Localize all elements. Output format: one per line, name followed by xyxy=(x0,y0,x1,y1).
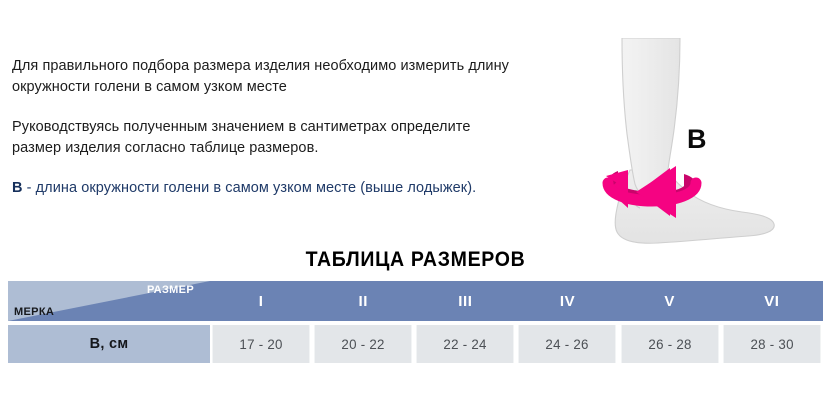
table-header-col-3: III xyxy=(414,281,516,321)
paragraph-measure-instruction: Для правильного подбора размера изделия … xyxy=(12,56,512,98)
table-header-row: РАЗМЕР МЕРКА I II III IV V VI xyxy=(8,281,823,321)
row-header-b-cm: В, см xyxy=(8,325,210,363)
table-header-col-1: I xyxy=(210,281,312,321)
table-header-col-2: II xyxy=(312,281,414,321)
paragraph-legend: В - длина окружности голени в самом узко… xyxy=(12,178,512,199)
cell-size-1: 17 - 20 xyxy=(213,325,310,363)
leg-illustration-svg xyxy=(580,38,831,270)
measure-label-b: В xyxy=(687,126,707,153)
corner-measure-label: МЕРКА xyxy=(14,306,54,318)
corner-size-label: РАЗМЕР xyxy=(147,284,194,296)
table-header-col-4: IV xyxy=(516,281,618,321)
cell-size-3: 22 - 24 xyxy=(417,325,514,363)
page-title: ТАБЛИЦА РАЗМЕРОВ xyxy=(29,248,802,272)
table-header-col-6: VI xyxy=(721,281,823,321)
cell-size-4: 24 - 26 xyxy=(519,325,616,363)
description-block: Для правильного подбора размера изделия … xyxy=(12,56,512,199)
table-header-col-5: V xyxy=(619,281,721,321)
size-table: РАЗМЕР МЕРКА I II III IV V VI В, см 17 -… xyxy=(8,281,823,363)
table-row: В, см 17 - 20 20 - 22 22 - 24 24 - 26 26… xyxy=(8,325,823,363)
table-corner-cell: РАЗМЕР МЕРКА xyxy=(8,281,210,321)
leg-measurement-figure: В xyxy=(580,38,831,270)
legend-text: - длина окружности голени в самом узком … xyxy=(23,180,477,196)
cell-size-5: 26 - 28 xyxy=(621,325,718,363)
paragraph-use-value-instruction: Руководствуясь полученным значением в са… xyxy=(12,117,512,159)
cell-size-2: 20 - 22 xyxy=(315,325,412,363)
cell-size-6: 28 - 30 xyxy=(723,325,820,363)
legend-marker-b: В xyxy=(12,180,23,196)
